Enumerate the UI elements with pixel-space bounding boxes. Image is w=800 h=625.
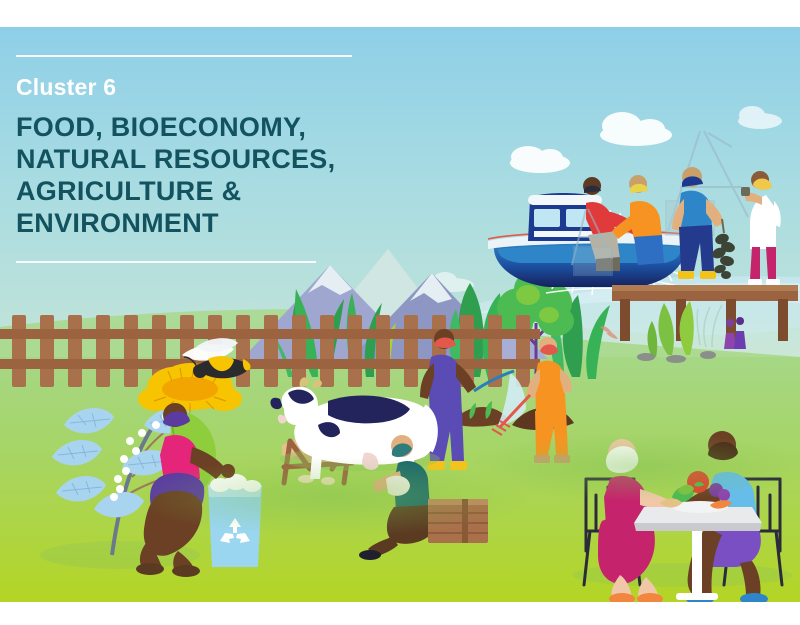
rule-below-title (16, 261, 316, 263)
title-line-3: AGRICULTURE & (16, 176, 416, 208)
page-title: FOOD, BIOECONOMY, NATURAL RESOURCES, AGR… (16, 112, 416, 239)
cluster-label: Cluster 6 (16, 75, 416, 100)
pier-deck-top (612, 285, 798, 291)
grass-shade (470, 433, 800, 501)
grass-shade (130, 457, 530, 537)
bee-head (193, 364, 207, 378)
title-line-1: FOOD, BIOECONOMY, (16, 112, 416, 144)
fence-rail (0, 329, 540, 339)
poster-canvas: Cluster 6 FOOD, BIOECONOMY, NATURAL RESO… (0, 0, 800, 625)
title-line-4: ENVIRONMENT (16, 208, 416, 240)
title-line-2: NATURAL RESOURCES, (16, 144, 416, 176)
title-block: Cluster 6 FOOD, BIOECONOMY, NATURAL RESO… (16, 55, 416, 240)
rule-above-title (16, 55, 352, 57)
